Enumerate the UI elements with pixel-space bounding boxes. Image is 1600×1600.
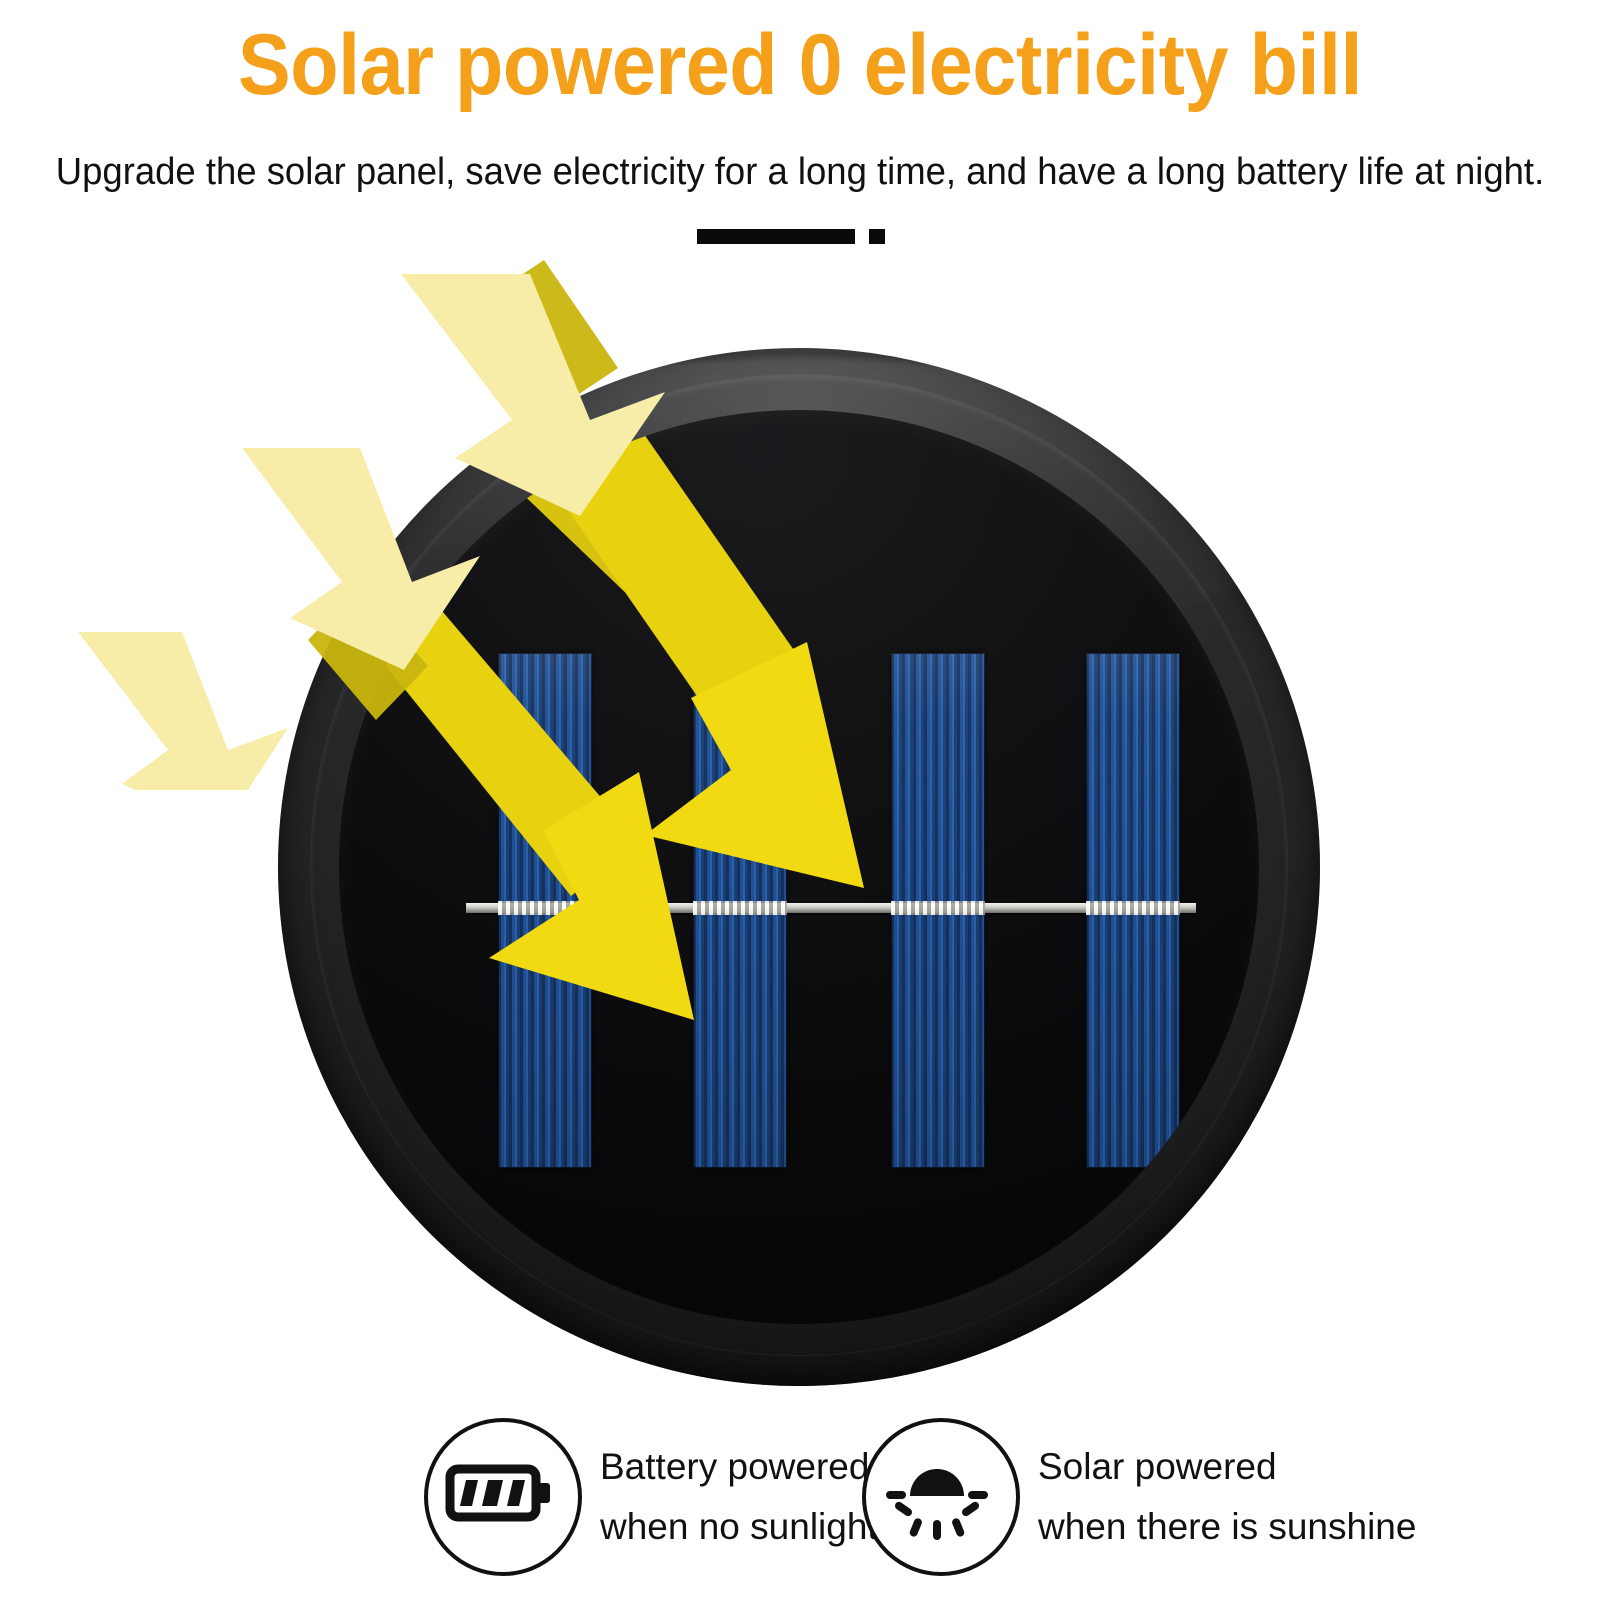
feature-solar[interactable]: Solar powered when there is sunshine	[862, 1418, 1416, 1576]
feature-solar-line1: Solar powered	[1038, 1446, 1277, 1487]
divider-bar	[697, 229, 855, 244]
feature-battery-text: Battery powered when no sunlight	[600, 1437, 878, 1557]
page-subheadline: Upgrade the solar panel, save electricit…	[32, 152, 1568, 194]
solar-busbar	[466, 903, 1196, 913]
feature-solar-text: Solar powered when there is sunshine	[1038, 1437, 1416, 1557]
lamp-glass-face	[339, 410, 1258, 1323]
infographic-page: Solar powered 0 electricity bill Upgrade…	[0, 0, 1600, 1600]
busbar-solder-segment	[498, 901, 592, 915]
feature-battery[interactable]: Battery powered when no sunlight	[424, 1418, 878, 1576]
solar-cell-array	[339, 410, 1258, 1323]
busbar-solder-segment	[891, 901, 985, 915]
sun-rays-icon-circle	[862, 1418, 1020, 1576]
solar-lamp-product-image	[278, 348, 1320, 1386]
feature-row: Battery powered when no sunlight	[0, 1418, 1600, 1588]
busbar-solder-segment	[693, 901, 787, 915]
feature-battery-line1: Battery powered	[600, 1446, 869, 1487]
divider-dot	[869, 229, 885, 244]
soft-arrow-3	[78, 632, 288, 790]
battery-icon-circle	[424, 1418, 582, 1576]
page-headline: Solar powered 0 electricity bill	[64, 22, 1536, 108]
feature-battery-line2: when no sunlight	[600, 1497, 878, 1557]
busbar-solder-segment	[1086, 901, 1180, 915]
battery-icon	[428, 1422, 570, 1564]
feature-solar-line2: when there is sunshine	[1038, 1497, 1416, 1557]
sun-rays-icon	[866, 1422, 1008, 1564]
section-divider	[697, 229, 887, 245]
